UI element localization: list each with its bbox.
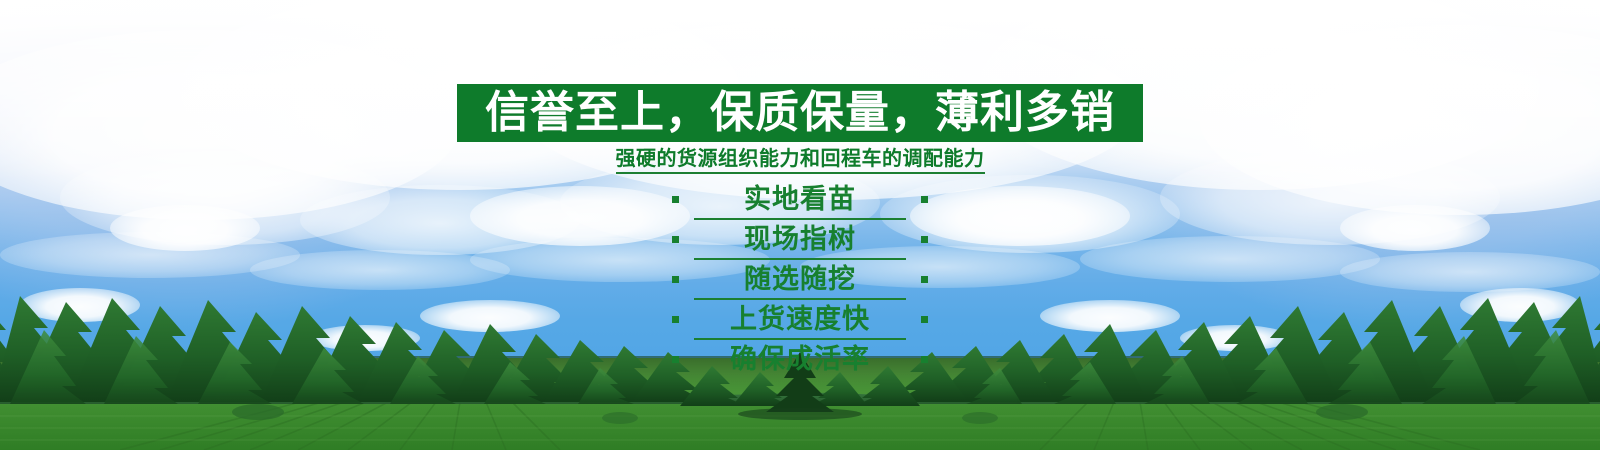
subtitle-text: 强硬的货源组织能力和回程车的调配能力: [616, 147, 985, 174]
bullet-dot-icon: [921, 316, 928, 323]
headline-bar: 信誉至上，保质保量，薄利多销: [457, 84, 1143, 142]
feature-list: 实地看苗 现场指树 随选随挖 上货速度快: [0, 180, 1600, 378]
feature-label: 随选随挖: [744, 266, 856, 293]
feature-label: 确保成活率: [730, 346, 870, 373]
subtitle-row: 强硬的货源组织能力和回程车的调配能力: [0, 147, 1600, 174]
bullet-dot-icon: [921, 276, 928, 283]
bullet-dot-icon: [672, 196, 679, 203]
feature-item: 随选随挖: [670, 260, 930, 298]
bullet-dot-icon: [921, 356, 928, 363]
feature-label: 现场指树: [744, 226, 856, 253]
bullet-dot-icon: [921, 196, 928, 203]
headline-text: 信誉至上，保质保量，薄利多销: [485, 91, 1115, 135]
feature-label: 实地看苗: [744, 186, 856, 213]
feature-item: 现场指树: [670, 220, 930, 258]
bullet-dot-icon: [672, 316, 679, 323]
bullet-dot-icon: [672, 276, 679, 283]
banner-content: 信誉至上，保质保量，薄利多销 强硬的货源组织能力和回程车的调配能力 实地看苗 现…: [0, 0, 1600, 450]
promo-banner: 信誉至上，保质保量，薄利多销 强硬的货源组织能力和回程车的调配能力 实地看苗 现…: [0, 0, 1600, 450]
bullet-dot-icon: [921, 236, 928, 243]
feature-item: 上货速度快: [670, 300, 930, 338]
bullet-dot-icon: [672, 356, 679, 363]
bullet-dot-icon: [672, 236, 679, 243]
feature-label: 上货速度快: [730, 306, 870, 333]
feature-item: 实地看苗: [670, 180, 930, 218]
feature-item: 确保成活率: [670, 340, 930, 378]
